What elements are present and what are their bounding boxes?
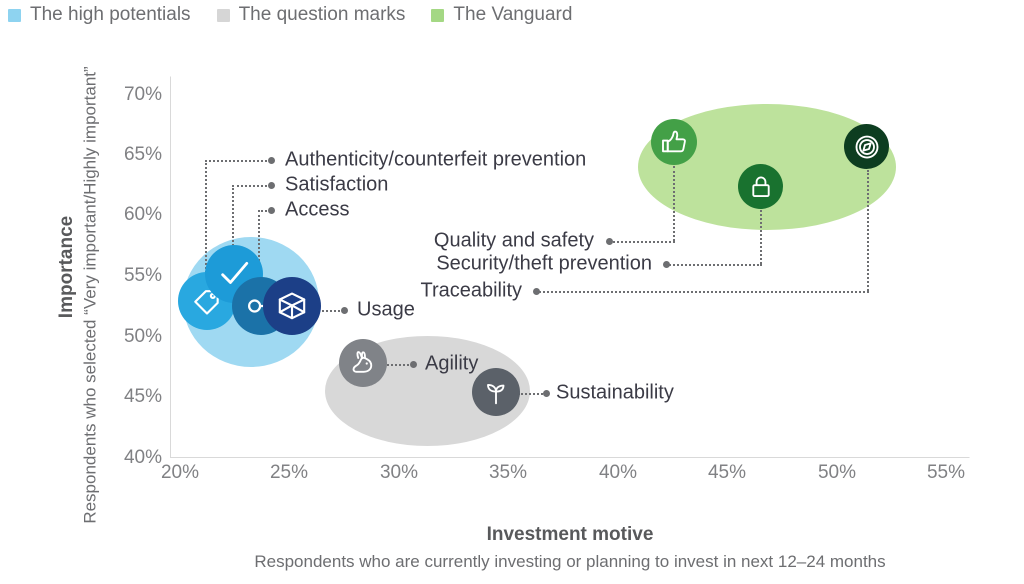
y-tick-70: 70% — [124, 84, 162, 106]
compass-icon — [852, 132, 882, 162]
label-satisfaction: Satisfaction — [285, 174, 388, 197]
connector-satisfaction-horizontal — [232, 185, 271, 187]
y-tick-60: 60% — [124, 204, 162, 226]
connector-satisfaction-dot — [268, 182, 275, 189]
x-tick-50: 50% — [818, 462, 856, 484]
y-tick-45: 45% — [124, 386, 162, 408]
x-tick-25: 25% — [270, 462, 308, 484]
x-tick-20: 20% — [161, 462, 199, 484]
connector-security-vertical — [760, 210, 762, 264]
connector-security-horizontal — [666, 264, 762, 266]
legend-swatch-vanguard — [431, 9, 444, 22]
x-axis-subtitle: Respondents who are currently investing … — [120, 552, 1020, 572]
y-tick-65: 65% — [124, 144, 162, 166]
label-agility: Agility — [425, 353, 478, 376]
connector-authenticity-horizontal — [205, 160, 271, 162]
connector-traceability-vertical — [867, 170, 869, 291]
bubble-usage[interactable] — [263, 277, 321, 335]
label-quality-and-safety: Quality and safety — [434, 230, 594, 253]
x-tick-30: 30% — [380, 462, 418, 484]
label-traceability: Traceability — [420, 280, 522, 303]
connector-traceability-dot — [533, 288, 540, 295]
connector-quality-dot — [606, 238, 613, 245]
rabbit-icon — [348, 348, 378, 378]
connector-usage-dot — [341, 307, 348, 314]
x-axis-title: Investment motive — [170, 524, 970, 546]
legend-label-question-marks: The question marks — [239, 4, 406, 26]
connector-security-dot — [663, 261, 670, 268]
bubble-quality-and-safety[interactable] — [651, 119, 697, 165]
connector-access-dot — [268, 207, 275, 214]
legend-label-vanguard: The Vanguard — [453, 4, 572, 26]
bubble-traceability[interactable] — [844, 124, 889, 169]
connector-quality-horizontal — [609, 241, 675, 243]
x-tick-35: 35% — [489, 462, 527, 484]
connector-agility-horizontal — [383, 364, 413, 366]
x-tick-55: 55% — [927, 462, 965, 484]
connector-quality-vertical — [673, 166, 675, 241]
x-tick-40: 40% — [599, 462, 637, 484]
bubble-security-theft-prevention[interactable] — [738, 164, 783, 209]
bubble-sustainability[interactable] — [472, 368, 520, 416]
legend-swatch-question-marks — [217, 9, 230, 22]
open-box-icon — [275, 289, 309, 323]
connector-agility-dot — [410, 361, 417, 368]
y-axis-title: Importance — [56, 76, 78, 458]
label-usage: Usage — [357, 299, 415, 322]
connector-traceability-horizontal — [536, 291, 869, 293]
bubble-agility[interactable] — [339, 339, 387, 387]
label-access: Access — [285, 199, 349, 222]
connector-sustainability-horizontal — [518, 393, 546, 395]
label-authenticity: Authenticity/counterfeit prevention — [285, 149, 586, 172]
connector-sustainability-dot — [543, 390, 550, 397]
legend-item-vanguard[interactable]: The Vanguard — [431, 4, 572, 26]
x-tick-45: 45% — [708, 462, 746, 484]
y-tick-40: 40% — [124, 447, 162, 469]
lock-icon — [747, 173, 775, 201]
label-sustainability: Sustainability — [556, 382, 674, 405]
chart-canvas: The high potentials The question marks T… — [0, 0, 1024, 584]
connector-authenticity-dot — [268, 157, 275, 164]
seedling-icon — [481, 377, 511, 407]
legend-item-question-marks[interactable]: The question marks — [217, 4, 406, 26]
y-tick-50: 50% — [124, 326, 162, 348]
y-axis-ticks: 70% 65% 60% 55% 50% 45% 40% — [96, 0, 162, 584]
y-axis-title-text: Importance — [56, 216, 78, 318]
thumbs-up-icon — [659, 127, 689, 157]
y-tick-55: 55% — [124, 265, 162, 287]
label-security-theft-prevention: Security/theft prevention — [436, 253, 652, 276]
legend-swatch-high-potentials — [8, 9, 21, 22]
